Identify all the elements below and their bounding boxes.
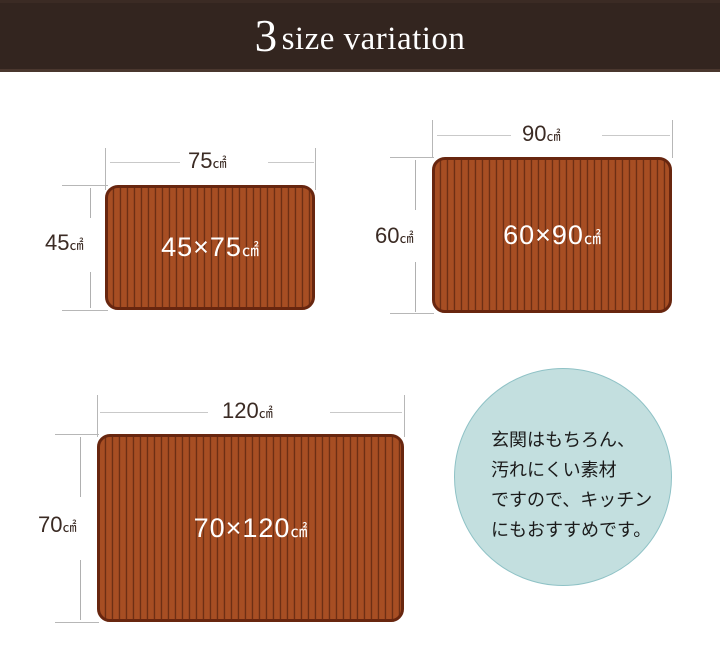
- mat1-ext-top: [62, 185, 108, 186]
- mat2-height-unit: ㎠: [399, 230, 413, 246]
- mat3-ext-top: [55, 434, 99, 435]
- mat2-width-value: 90: [522, 121, 546, 146]
- mat-60x90-unit: ㎠: [584, 229, 601, 248]
- mat-60x90-size: 60×90: [503, 220, 584, 250]
- mat-45x75[interactable]: 45×75㎠: [105, 185, 315, 310]
- mat3-ext-bottom: [55, 622, 99, 623]
- mat2-height-rule-bottom: [415, 262, 416, 312]
- mat-70x120-size: 70×120: [194, 513, 291, 543]
- mat-45x75-label: 45×75㎠: [161, 234, 259, 261]
- title-number: 3: [255, 11, 282, 61]
- mat3-width-rule-right: [330, 412, 402, 413]
- mat3-ext-left: [97, 395, 98, 437]
- mat3-width-value: 120: [222, 398, 259, 423]
- mat3-width-rule-left: [100, 412, 208, 413]
- mat1-height-label: 45㎠: [45, 232, 83, 254]
- mat2-height-rule-top: [415, 160, 416, 210]
- mat3-height-value: 70: [38, 512, 62, 537]
- mat1-height-rule-bottom: [90, 272, 91, 308]
- mat3-height-label: 70㎠: [38, 514, 76, 536]
- mat1-ext-left: [105, 148, 106, 190]
- mat3-ext-right: [404, 395, 405, 437]
- mat1-width-rule-left: [110, 162, 180, 163]
- mat1-width-label: 75㎠: [188, 150, 226, 172]
- mat3-height-unit: ㎠: [62, 519, 76, 535]
- mat1-height-unit: ㎠: [69, 237, 83, 253]
- mat2-width-rule-right: [602, 135, 670, 136]
- mat2-width-unit: ㎠: [546, 128, 560, 144]
- mat2-ext-top: [390, 157, 434, 158]
- mat-70x120[interactable]: 70×120㎠: [97, 434, 404, 622]
- callout-line-4: にもおすすめです。: [491, 515, 651, 545]
- mat3-width-label: 120㎠: [222, 400, 273, 422]
- mat-60x90-label: 60×90㎠: [503, 222, 601, 249]
- callout-line-2: 汚れにくい素材: [491, 455, 651, 485]
- mat2-ext-bottom: [390, 313, 434, 314]
- page-title: 3size variation: [255, 14, 466, 59]
- mat1-width-value: 75: [188, 148, 212, 173]
- mat-45x75-unit: ㎠: [242, 241, 259, 260]
- callout-line-3: ですので、キッチン: [491, 485, 651, 515]
- mat3-height-rule-bottom: [80, 560, 81, 620]
- mat1-width-unit: ㎠: [212, 155, 226, 171]
- mat2-ext-left: [432, 120, 433, 158]
- mat1-height-value: 45: [45, 230, 69, 255]
- mat2-height-label: 60㎠: [375, 225, 413, 247]
- mat1-ext-right: [315, 148, 316, 190]
- mat1-width-rule-right: [268, 162, 314, 163]
- mat2-ext-right: [672, 120, 673, 158]
- mat2-width-rule-left: [437, 135, 511, 136]
- mat2-height-value: 60: [375, 223, 399, 248]
- callout-text: 玄関はもちろん、 汚れにくい素材 ですので、キッチン にもおすすめです。: [491, 425, 651, 545]
- header-banner: 3size variation: [0, 0, 720, 72]
- mat1-height-rule-top: [90, 188, 91, 218]
- mat-70x120-unit: ㎠: [290, 522, 307, 541]
- mat-45x75-size: 45×75: [161, 232, 242, 262]
- mat1-ext-bottom: [62, 310, 108, 311]
- mat-70x120-label: 70×120㎠: [194, 515, 308, 542]
- callout-line-1: 玄関はもちろん、: [491, 425, 651, 455]
- callout-circle: 玄関はもちろん、 汚れにくい素材 ですので、キッチン にもおすすめです。: [454, 368, 672, 586]
- title-text: size variation: [282, 21, 466, 57]
- mat3-height-rule-top: [80, 437, 81, 497]
- mat-60x90[interactable]: 60×90㎠: [432, 157, 672, 313]
- mat2-width-label: 90㎠: [522, 123, 560, 145]
- mat3-width-unit: ㎠: [259, 405, 273, 421]
